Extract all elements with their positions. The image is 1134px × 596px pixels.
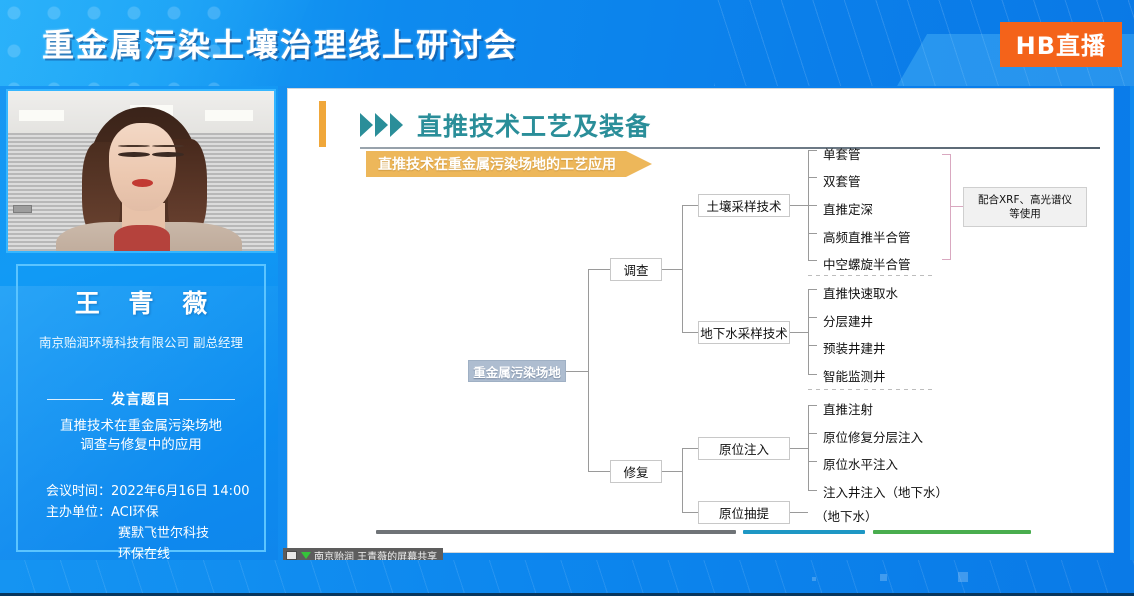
meeting-time-label: 会议时间： <box>46 484 111 499</box>
tree-leaf: 直推定深 <box>823 199 873 218</box>
note-connector <box>951 206 963 207</box>
footer-dot <box>880 574 887 581</box>
organizer-label: 主办单位： <box>46 505 111 520</box>
note-bracket-tip <box>942 259 951 260</box>
speaker-eyebrow <box>118 145 150 148</box>
group-separator <box>808 275 933 276</box>
tree-bracket-tip <box>808 260 817 261</box>
tree-connector <box>808 233 817 234</box>
group-separator <box>808 389 933 390</box>
tree-connector <box>808 461 817 462</box>
footer-dot <box>812 577 816 581</box>
tree-connector <box>808 345 817 346</box>
organizer-row: 主办单位：ACI环保 <box>46 502 264 523</box>
tree-bracket <box>808 405 809 490</box>
tree-bracket-tip <box>808 405 817 406</box>
tree-category-node: 原位注入 <box>698 437 790 460</box>
tree-root-node: 重金属污染场地 <box>468 360 566 382</box>
tree-leaf: 中空螺旋半合管 <box>823 254 911 273</box>
speaker-face <box>109 123 176 211</box>
meeting-time-value: 2022年6月16日 14:00 <box>111 484 250 499</box>
shared-slide[interactable]: 直推技术工艺及装备 直推技术在重金属污染场地的工艺应用 重金属污染场地 调查 土… <box>287 88 1114 553</box>
tree-connector <box>588 471 610 472</box>
livestream-screen: 重金属污染土壤治理线上研讨会 HB直播 王 青 薇 <box>0 0 1134 596</box>
topic-text-block: 直推技术在重金属污染场地 调查与修复中的应用 <box>18 417 264 455</box>
tree-connector <box>662 269 682 270</box>
tree-connector <box>566 371 588 372</box>
organizer-name: 环保在线 <box>46 544 264 561</box>
tree-leaf: 原位修复分层注入 <box>823 427 923 446</box>
tree-category-node: 土壤采样技术 <box>698 194 790 217</box>
tree-connector <box>790 448 808 449</box>
divider-right <box>179 399 235 400</box>
note-bracket-tip <box>942 154 951 155</box>
tree-connector <box>682 205 698 206</box>
tree-connector <box>682 448 683 512</box>
footer-dot <box>958 572 968 582</box>
tree-connector <box>790 205 808 206</box>
tree-branch-node: 修复 <box>610 460 662 483</box>
tree-leaf: 高频直推半合管 <box>823 227 911 246</box>
mindmap-tree: 重金属污染场地 调查 土壤采样技术 单套管 双套管 直推定深 高频直推半合管 中… <box>288 89 1114 553</box>
tree-leaf: 注入井注入（地下水） <box>823 482 948 501</box>
organizer-name: 赛默飞世尔科技 <box>46 523 264 544</box>
tree-bracket-tip <box>808 289 817 290</box>
divider-left <box>47 399 103 400</box>
tree-bracket-tip <box>808 374 817 375</box>
speaker-webcam-tile[interactable] <box>6 89 276 253</box>
speaker-eye <box>118 152 150 157</box>
tree-connector <box>808 205 817 206</box>
organizer-name: ACI环保 <box>111 505 159 520</box>
tree-connector <box>808 177 817 178</box>
speaker-name: 王 青 薇 <box>18 284 264 320</box>
tree-connector <box>588 269 589 471</box>
tree-connector <box>682 205 683 333</box>
tree-bracket-tip <box>808 150 817 151</box>
tree-bracket-tip <box>808 490 817 491</box>
tree-leaf: （地下水） <box>815 506 878 525</box>
speaker-info-card: 王 青 薇 南京贻润环境科技有限公司 副总经理 发言题目 直推技术在重金属污染场… <box>16 264 266 552</box>
speaker-scarf <box>114 225 170 253</box>
tree-connector <box>808 433 817 434</box>
speaker-organization: 南京贻润环境科技有限公司 副总经理 <box>18 332 264 351</box>
meeting-meta-block: 会议时间：2022年6月16日 14:00 主办单位：ACI环保 赛默飞世尔科技… <box>18 481 264 561</box>
tree-leaf: 分层建井 <box>823 311 873 330</box>
slide-bottom-bar-gray <box>376 530 736 534</box>
tree-leaf: 预装井建井 <box>823 338 886 357</box>
tree-leaf: 原位水平注入 <box>823 454 898 473</box>
topic-heading: 发言题目 <box>111 389 171 409</box>
topic-heading-row: 发言题目 <box>18 389 264 409</box>
page-footer <box>0 560 1134 596</box>
tree-connector <box>682 512 698 513</box>
right-edge-strip <box>1130 86 1134 561</box>
speaker-eyebrow <box>152 145 184 148</box>
tree-connector <box>588 269 610 270</box>
speaker-eye <box>152 152 184 157</box>
slide-bottom-bar-teal <box>743 530 865 534</box>
page-header: 重金属污染土壤治理线上研讨会 HB直播 <box>0 0 1134 86</box>
tree-leaf: 智能监测井 <box>823 366 886 385</box>
page-title: 重金属污染土壤治理线上研讨会 <box>42 20 518 66</box>
tree-leaf: 直推注射 <box>823 399 873 418</box>
tree-connector <box>790 332 808 333</box>
tree-category-node: 原位抽提 <box>698 501 790 524</box>
ceiling-light <box>205 110 253 121</box>
tree-bracket <box>808 289 809 374</box>
topic-line: 直推技术在重金属污染场地 <box>18 417 264 436</box>
tree-leaf: 单套管 <box>823 144 861 163</box>
tree-connector <box>682 448 698 449</box>
topic-line: 调查与修复中的应用 <box>18 436 264 455</box>
tree-branch-node: 调查 <box>610 258 662 281</box>
live-badge: HB直播 <box>1000 22 1122 67</box>
wall-plate <box>13 205 32 213</box>
tree-connector <box>790 512 808 513</box>
tree-category-node: 地下水采样技术 <box>698 321 790 344</box>
slide-bottom-bar-green <box>873 530 1031 534</box>
tree-connector <box>662 471 682 472</box>
speaker-lips <box>132 179 153 187</box>
meeting-time-row: 会议时间：2022年6月16日 14:00 <box>46 481 264 502</box>
tree-leaf: 直推快速取水 <box>823 283 898 302</box>
tree-connector <box>808 317 817 318</box>
note-box: 配合XRF、高光谱仪 等使用 <box>963 187 1087 227</box>
speaker-sidebar: 王 青 薇 南京贻润环境科技有限公司 副总经理 发言题目 直推技术在重金属污染场… <box>0 86 278 561</box>
ceiling-light <box>19 110 64 121</box>
tree-connector <box>682 332 698 333</box>
tree-leaf: 双套管 <box>823 171 861 190</box>
